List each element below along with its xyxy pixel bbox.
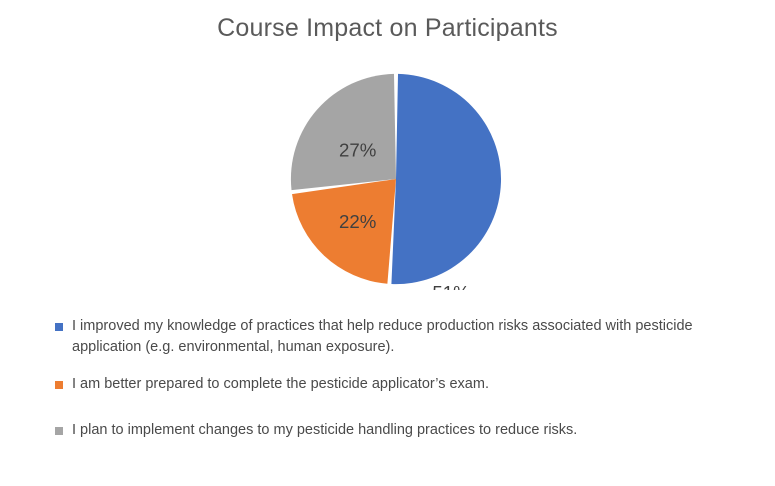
pie-chart-figure: Course Impact on Participants 51%22%27% … bbox=[0, 0, 775, 486]
legend-item-label: I improved my knowledge of practices tha… bbox=[72, 316, 752, 358]
chart-title: Course Impact on Participants bbox=[0, 12, 775, 44]
legend-item-label: I plan to implement changes to my pestic… bbox=[72, 420, 752, 441]
pie-slice-data-label: 27% bbox=[339, 139, 376, 160]
legend-color-swatch-icon bbox=[55, 381, 63, 389]
legend-item[interactable]: I am better prepared to complete the pes… bbox=[52, 374, 752, 395]
legend-color-swatch-icon bbox=[55, 323, 63, 331]
pie-plot-area: 51%22%27% bbox=[286, 68, 506, 290]
pie-slice[interactable] bbox=[391, 74, 501, 284]
legend-item-label: I am better prepared to complete the pes… bbox=[72, 374, 752, 395]
pie-slices-group bbox=[291, 74, 501, 284]
legend-color-swatch-icon bbox=[55, 427, 63, 435]
chart-legend: I improved my knowledge of practices tha… bbox=[52, 316, 752, 441]
pie-slice-data-label: 22% bbox=[339, 211, 376, 232]
legend-item[interactable]: I plan to implement changes to my pestic… bbox=[52, 420, 752, 441]
pie-slice[interactable] bbox=[291, 74, 396, 190]
pie-svg: 51%22%27% bbox=[286, 68, 506, 290]
pie-slice-data-label: 51% bbox=[432, 282, 469, 290]
legend-item[interactable]: I improved my knowledge of practices tha… bbox=[52, 316, 752, 358]
